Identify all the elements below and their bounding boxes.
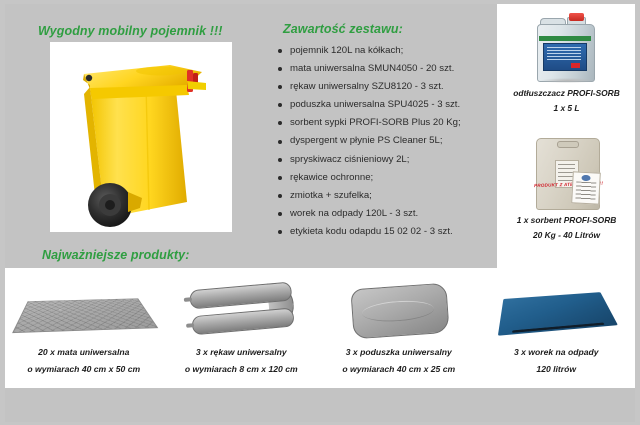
blue-waste-bag-icon (478, 272, 636, 344)
list-item: dyspergent w płynie PS Cleaner 5L; (277, 132, 461, 150)
list-item: mata uniwersalna SMUN4050 - 20 szt. (277, 60, 461, 78)
pillow-shape (350, 283, 449, 340)
sack-certificate-card (571, 171, 601, 204)
bottom-gray-band (5, 388, 635, 422)
list-item-label: pojemnik 120L na kółkach; (290, 45, 403, 56)
sorbent-caption-line1: 1 x sorbent PROFI-SORB (498, 213, 635, 228)
mat-caption: 20 x mata uniwersalna o wymiarach 40 cm … (5, 344, 163, 378)
canister-green-stripe (539, 36, 591, 41)
bin-photo (50, 42, 232, 232)
absorbent-sock-icon (163, 272, 321, 344)
list-item: rękawice ochronne; (277, 169, 461, 187)
canister-shadow (541, 78, 595, 83)
bullet-icon (278, 85, 282, 89)
contents-list: pojemnik 120L na kółkach; mata uniwersal… (277, 42, 461, 241)
products-strip: 20 x mata uniwersalna o wymiarach 40 cm … (5, 268, 635, 388)
product-card-waste-bag: 3 x worek na odpady 120 litrów (478, 268, 636, 388)
yellow-wheelie-bin-icon (50, 42, 232, 232)
list-item-label: sorbent sypki PROFI-SORB Plus 20 Kg; (290, 117, 461, 128)
list-item-label: dyspergent w płynie PS Cleaner 5L; (290, 135, 443, 146)
mat-caption-line2: o wymiarach 40 cm x 50 cm (5, 361, 163, 378)
certificate-seal-icon (581, 175, 590, 181)
bullet-icon (278, 212, 282, 216)
pillow-caption: 3 x poduszka uniwersalny o wymiarach 40 … (320, 344, 478, 378)
canister-icon (531, 12, 603, 82)
bin-heading: Wygodny mobilny pojemnik !!! (38, 24, 223, 38)
canister-cap (569, 13, 584, 21)
list-item: poduszka uniwersalna SPU4025 - 3 szt. (277, 96, 461, 114)
waste-bag-sheet (498, 292, 618, 336)
absorbent-pillow-icon (320, 272, 478, 344)
list-item-label: rękaw uniwersalny SZU8120 - 3 szt. (290, 81, 444, 92)
bullet-icon (278, 49, 282, 53)
list-item: spryskiwacz ciśnieniowy 2L; (277, 151, 461, 169)
list-item-label: mata uniwersalna SMUN4050 - 20 szt. (290, 63, 454, 74)
pillow-caption-line2: o wymiarach 40 cm x 25 cm (320, 361, 478, 378)
mat-caption-line1: 20 x mata uniwersalna (5, 344, 163, 361)
slide-inner: Wygodny mobilny pojemnik !!! (5, 4, 635, 422)
list-item-label: poduszka uniwersalna SPU4025 - 3 szt. (290, 99, 460, 110)
sock-shape (187, 278, 295, 343)
bullet-icon (278, 103, 282, 107)
contents-column: Zawartość zestawu: pojemnik 120L na kółk… (263, 4, 497, 268)
bullet-icon (278, 140, 282, 144)
degreaser-caption-line1: odtłuszczacz PROFI-SORB (498, 86, 635, 101)
right-products-column: odtłuszczacz PROFI-SORB 1 x 5 L PRODUKT … (498, 4, 635, 268)
canister-label (543, 43, 587, 71)
bullet-icon (278, 158, 282, 162)
sock-caption-line1: 3 x rękaw uniwersalny (163, 344, 321, 361)
bullet-icon (278, 121, 282, 125)
product-card-mat: 20 x mata uniwersalna o wymiarach 40 cm … (5, 268, 163, 388)
waste-bag-caption-line2: 120 litrów (478, 361, 636, 378)
list-item-label: rękawice ochronne; (290, 172, 373, 183)
sorbent-sack-icon: PRODUKT Z ATESTEM PZH !! (528, 134, 606, 210)
waste-bag-caption-line1: 3 x worek na odpady (478, 344, 636, 361)
mat-surface (12, 298, 158, 333)
contents-heading: Zawartość zestawu: (283, 22, 403, 36)
top-section: Wygodny mobilny pojemnik !!! (5, 4, 635, 268)
degreaser-caption-line2: 1 x 5 L (498, 101, 635, 116)
certificate-text-lines (575, 181, 596, 200)
list-item: zmiotka + szufelka; (277, 187, 461, 205)
canister-label-text-lines (547, 47, 581, 61)
sack-handle (557, 141, 579, 148)
list-item: sorbent sypki PROFI-SORB Plus 20 Kg; (277, 114, 461, 132)
waste-bag-caption: 3 x worek na odpady 120 litrów (478, 344, 636, 378)
product-card-degreaser: odtłuszczacz PROFI-SORB 1 x 5 L (498, 6, 635, 116)
bin-column: Wygodny mobilny pojemnik !!! (5, 4, 263, 268)
sock-arm-bottom (192, 307, 295, 335)
waste-bag-edge (512, 323, 605, 333)
list-item: pojemnik 120L na kółkach; (277, 42, 461, 60)
product-card-sorbent: PRODUKT Z ATESTEM PZH !! 1 x sorbent PRO… (498, 130, 635, 243)
product-card-sock: 3 x rękaw uniwersalny o wymiarach 8 cm x… (163, 268, 321, 388)
products-heading: Najważniejsze produkty: (42, 248, 189, 262)
pillow-caption-line1: 3 x poduszka uniwersalny (320, 344, 478, 361)
list-item: worek na odpady 120L - 3 szt. (277, 205, 461, 223)
bullet-icon (278, 194, 282, 198)
bullet-icon (278, 67, 282, 71)
slide-canvas: Wygodny mobilny pojemnik !!! (0, 0, 640, 425)
bottom-section: Najważniejsze produkty: 20 x mata uniwer… (5, 232, 635, 422)
sock-caption-line2: o wymiarach 8 cm x 120 cm (163, 361, 321, 378)
product-card-pillow: 3 x poduszka uniwersalny o wymiarach 40 … (320, 268, 478, 388)
list-item-label: worek na odpady 120L - 3 szt. (290, 208, 418, 219)
bullet-icon (278, 176, 282, 180)
pillow-fold (361, 299, 434, 324)
list-item: rękaw uniwersalny SZU8120 - 3 szt. (277, 78, 461, 96)
absorbent-mat-icon (5, 272, 163, 344)
list-item-label: zmiotka + szufelka; (290, 190, 372, 201)
canister-label-chip (571, 63, 580, 68)
sock-caption: 3 x rękaw uniwersalny o wymiarach 8 cm x… (163, 344, 321, 378)
list-item-label: spryskiwacz ciśnieniowy 2L; (290, 154, 409, 165)
